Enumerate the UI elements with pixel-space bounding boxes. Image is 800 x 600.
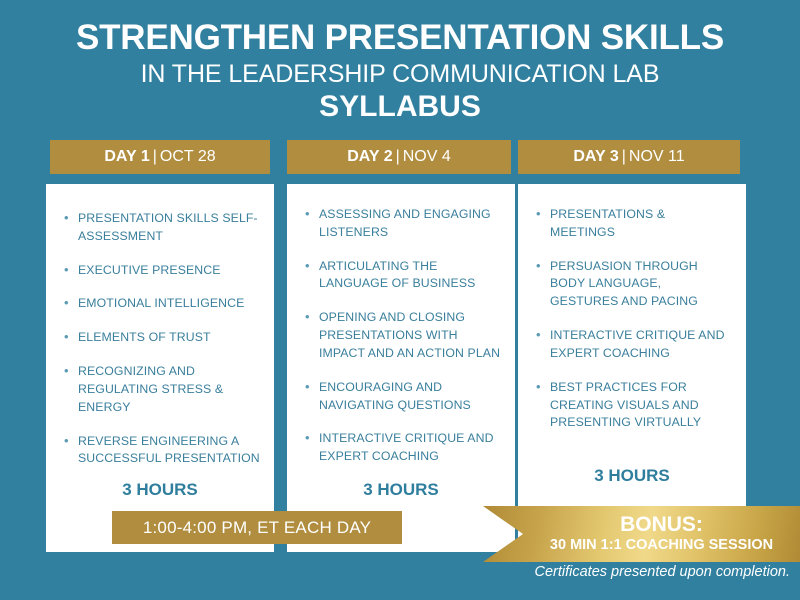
- list-item: PRESENTATION SKILLS SELF-ASSESSMENT: [62, 210, 260, 246]
- topic-list-2: ASSESSING AND ENGAGING LISTENERS ARTICUL…: [287, 184, 515, 466]
- bonus-subtitle: 30 MIN 1:1 COACHING SESSION: [523, 537, 800, 554]
- day-date-2: NOV 4: [403, 148, 451, 166]
- day-label-2: DAY 2: [347, 148, 392, 166]
- hours-label-1: 3 HOURS: [46, 480, 274, 500]
- hours-label-2: 3 HOURS: [287, 480, 515, 500]
- bonus-banner-text: BONUS: 30 MIN 1:1 COACHING SESSION: [523, 506, 800, 562]
- list-item: EXECUTIVE PRESENCE: [62, 262, 260, 280]
- day-date-1: OCT 28: [160, 148, 216, 166]
- hours-label-3: 3 HOURS: [518, 466, 746, 486]
- list-item: EMOTIONAL INTELLIGENCE: [62, 295, 260, 313]
- list-item: BEST PRACTICES FOR CREATING VISUALS AND …: [534, 379, 732, 432]
- time-banner: 1:00-4:00 PM, ET EACH DAY: [112, 511, 402, 544]
- topic-list-1: PRESENTATION SKILLS SELF-ASSESSMENT EXEC…: [46, 184, 274, 468]
- day-label-1: DAY 1: [104, 148, 149, 166]
- day-card-2: ASSESSING AND ENGAGING LISTENERS ARTICUL…: [287, 184, 515, 552]
- list-item: OPENING AND CLOSING PRESENTATIONS WITH I…: [303, 309, 501, 362]
- list-item: RECOGNIZING AND REGULATING STRESS & ENER…: [62, 363, 260, 416]
- day-header-3: DAY 3 | NOV 11: [518, 140, 740, 174]
- day-header-2: DAY 2 | NOV 4: [287, 140, 511, 174]
- day-card-1: PRESENTATION SKILLS SELF-ASSESSMENT EXEC…: [46, 184, 274, 552]
- list-item: INTERACTIVE CRITIQUE AND EXPERT COACHING: [303, 430, 501, 466]
- day-column-3: DAY 3 | NOV 11 PRESENTATIONS & MEETINGS …: [518, 140, 746, 174]
- day-column-2: DAY 2 | NOV 4 ASSESSING AND ENGAGING LIS…: [287, 140, 515, 174]
- day-header-1: DAY 1 | OCT 28: [50, 140, 270, 174]
- day-separator-3: |: [619, 148, 629, 166]
- list-item: ELEMENTS OF TRUST: [62, 329, 260, 347]
- topic-list-3: PRESENTATIONS & MEETINGS PERSUASION THRO…: [518, 184, 746, 432]
- day-column-1: DAY 1 | OCT 28 PRESENTATION SKILLS SELF-…: [46, 140, 274, 174]
- bonus-banner: BONUS: 30 MIN 1:1 COACHING SESSION: [483, 506, 800, 562]
- day-date-3: NOV 11: [629, 148, 685, 166]
- certificates-footnote: Certificates presented upon completion.: [483, 564, 795, 580]
- list-item: INTERACTIVE CRITIQUE AND EXPERT COACHING: [534, 327, 732, 363]
- bonus-title: BONUS:: [523, 514, 800, 536]
- day-separator-2: |: [393, 148, 403, 166]
- day-label-3: DAY 3: [573, 148, 618, 166]
- list-item: ENCOURAGING AND NAVIGATING QUESTIONS: [303, 379, 501, 415]
- list-item: PERSUASION THROUGH BODY LANGUAGE, GESTUR…: [534, 258, 732, 311]
- list-item: ASSESSING AND ENGAGING LISTENERS: [303, 206, 501, 242]
- list-item: PRESENTATIONS & MEETINGS: [534, 206, 732, 242]
- list-item: REVERSE ENGINEERING A SUCCESSFUL PRESENT…: [62, 433, 260, 469]
- day-card-3: PRESENTATIONS & MEETINGS PERSUASION THRO…: [518, 184, 746, 552]
- list-item: ARTICULATING THE LANGUAGE OF BUSINESS: [303, 258, 501, 294]
- day-separator-1: |: [150, 148, 160, 166]
